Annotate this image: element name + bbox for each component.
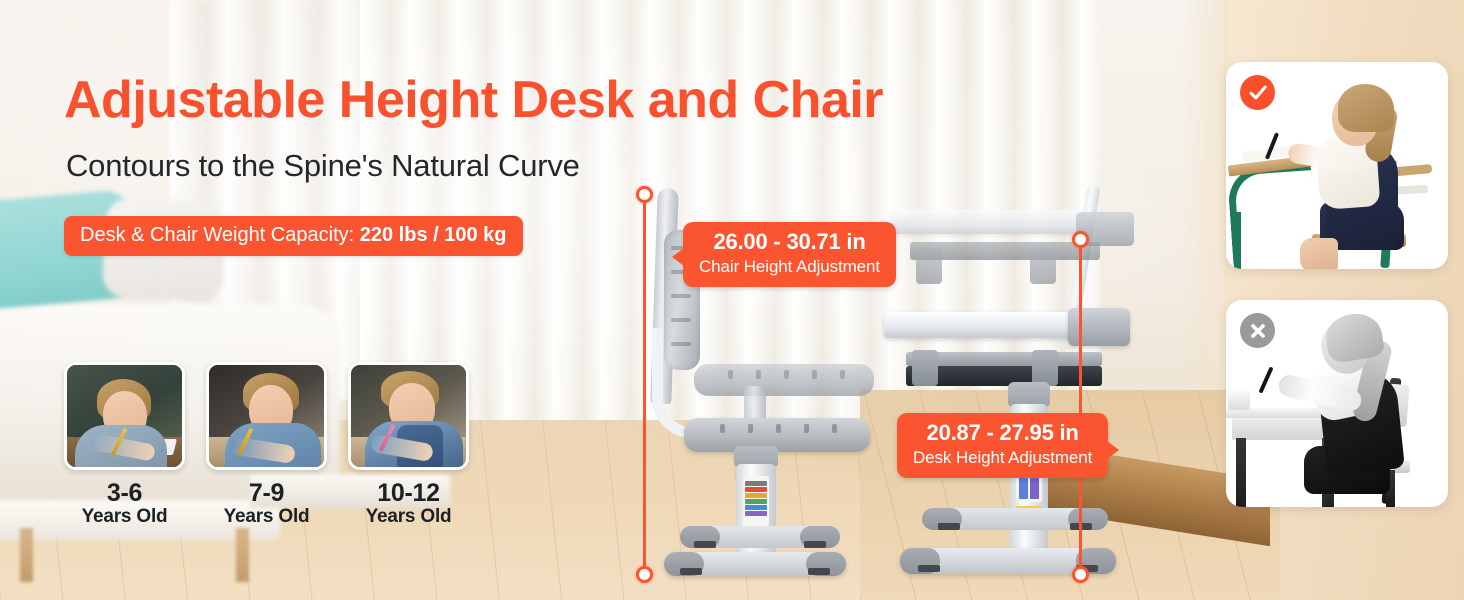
adjustable-desk-product [880, 190, 1180, 586]
chair-height-callout: 26.00 - 30.71 in Chair Height Adjustment [683, 222, 896, 287]
age-group-unit: Years Old [206, 506, 327, 528]
cross-icon [1240, 313, 1275, 348]
age-group-photo-7-9 [206, 362, 327, 470]
desk-measure-dot-bottom [1072, 566, 1089, 583]
good-posture-panel [1226, 62, 1448, 269]
age-group-range: 7-9 [206, 479, 327, 508]
desk-measure-dot-top [1072, 231, 1089, 248]
chair-measure-dot-top [636, 186, 653, 203]
age-group-item: 7-9 Years Old [206, 362, 327, 528]
chair-height-value: 26.00 - 30.71 in [699, 229, 880, 256]
chair-measure-dot-bottom [636, 566, 653, 583]
age-group-range: 10-12 [348, 479, 469, 508]
age-group-unit: Years Old [348, 506, 469, 528]
age-group-photo-3-6 [64, 362, 185, 470]
product-banner: Adjustable Height Desk and Chair Contour… [0, 0, 1464, 600]
page-subtitle: Contours to the Spine's Natural Curve [66, 148, 580, 184]
check-icon [1240, 75, 1275, 110]
desk-height-callout: 20.87 - 27.95 in Desk Height Adjustment [897, 413, 1108, 478]
bad-posture-panel [1226, 300, 1448, 507]
weight-capacity-badge: Desk & Chair Weight Capacity: 220 lbs / … [64, 216, 523, 256]
chair-height-label: Chair Height Adjustment [699, 256, 880, 277]
desk-height-label: Desk Height Adjustment [913, 447, 1092, 468]
age-group-item: 3-6 Years Old [64, 362, 185, 528]
age-group-unit: Years Old [64, 506, 185, 528]
chair-measure-line [643, 193, 646, 574]
age-group-list: 3-6 Years Old 7-9 Years Old [64, 362, 469, 528]
age-group-item: 10-12 Years Old [348, 362, 469, 528]
age-group-photo-10-12 [348, 362, 469, 470]
weight-capacity-label: Desk & Chair Weight Capacity: [80, 224, 354, 246]
desk-measure-line [1079, 238, 1082, 574]
weight-capacity-value: 220 lbs / 100 kg [360, 224, 507, 246]
desk-height-value: 20.87 - 27.95 in [913, 420, 1092, 447]
page-title: Adjustable Height Desk and Chair [64, 72, 883, 128]
age-group-range: 3-6 [64, 479, 185, 508]
